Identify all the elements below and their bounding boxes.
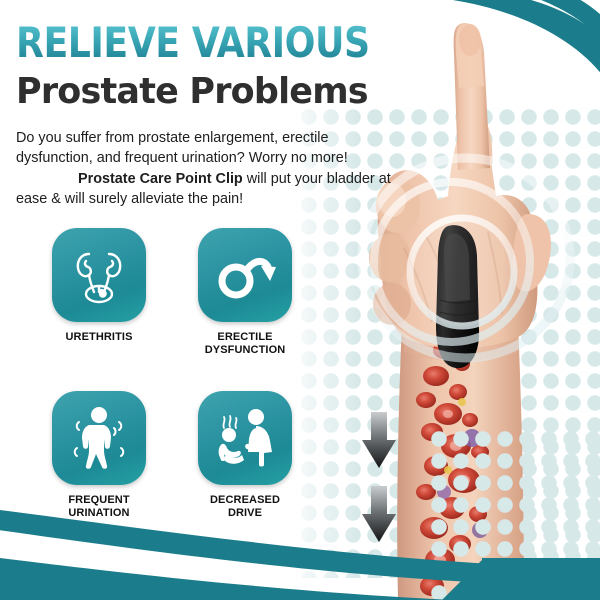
benefit-label: URETHRITIS — [52, 331, 146, 344]
downward-arrows — [358, 412, 400, 552]
benefit-tile — [198, 228, 292, 322]
page-title: RELIEVE VARIOUS — [16, 22, 370, 64]
benefit-item-decreased-drive[interactable]: DECREASED DRIVE — [198, 391, 292, 520]
benefit-label: ERECTILE DYSFUNCTION — [198, 331, 292, 357]
page-subtitle: Prostate Problems — [16, 74, 368, 110]
benefit-item-urethritis[interactable]: URETHRITIS — [52, 228, 146, 344]
body-sentence-1: Do you suffer from prostate enlargement,… — [16, 130, 348, 166]
kidneys-bladder-icon — [68, 244, 130, 306]
benefit-item-frequent-urination[interactable]: FREQUENT URINATION — [52, 391, 146, 520]
benefit-label: FREQUENT URINATION — [52, 494, 146, 520]
body-copy: Do you suffer from prostate enlargement,… — [16, 128, 394, 210]
product-name: Prostate Care Point Clip — [78, 171, 243, 187]
benefit-tile — [198, 391, 292, 485]
arrow-down-2 — [362, 486, 396, 542]
person-holding-bladder-icon — [70, 406, 128, 470]
arrow-down-1 — [362, 412, 396, 468]
benefit-label: DECREASED DRIVE — [198, 494, 292, 520]
corner-block-bottom-right — [482, 558, 600, 600]
male-symbol-drooping-arrow-icon — [214, 247, 276, 303]
benefit-item-erectile-dysfunction[interactable]: ERECTILE DYSFUNCTION — [198, 228, 292, 357]
couple-low-libido-icon — [212, 408, 278, 468]
benefit-tile — [52, 228, 146, 322]
poster-canvas: RELIEVE VARIOUS Prostate Problems Do you… — [0, 0, 600, 600]
benefit-tile — [52, 391, 146, 485]
